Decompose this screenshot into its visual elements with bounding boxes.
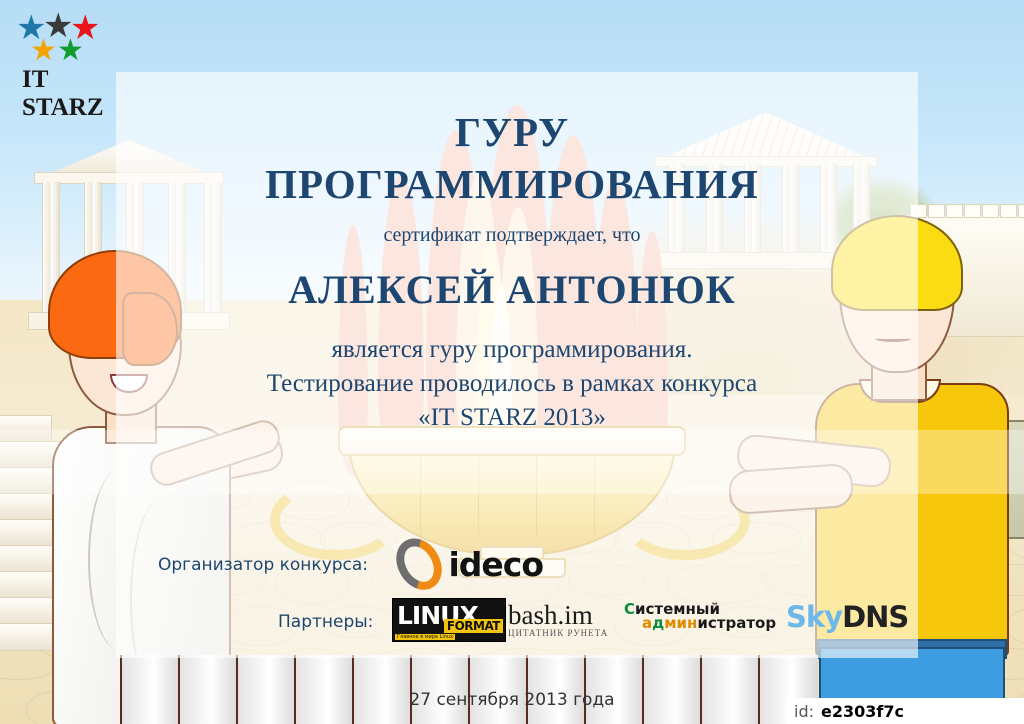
- id-label: id:: [794, 702, 814, 721]
- sysadmin-word2: администратор: [624, 616, 782, 631]
- organizer-label: Организатор конкурса:: [158, 555, 368, 575]
- ideco-wordmark: ideco: [448, 545, 543, 584]
- linux-format-logo: LINUX FORMAT Главное в мире Linux: [392, 598, 506, 642]
- title-line-1: ГУРУ: [0, 108, 1024, 156]
- confirmation-text: сертификат подтверждает, что: [0, 224, 1024, 247]
- skydns-word2: DNS: [842, 600, 908, 634]
- id-badge: id: e2303f7c: [786, 698, 1024, 724]
- ideco-logo: ideco: [398, 542, 543, 586]
- bash-im-logo: bash.im ЦИТАТНИК РУНЕТА: [508, 600, 623, 638]
- bash-im-tagline: ЦИТАТНИК РУНЕТА: [508, 628, 623, 638]
- linux-format-word2: FORMAT: [444, 619, 503, 633]
- skydns-logo: SkyDNS: [786, 600, 908, 634]
- bash-im-wordmark: bash.im: [508, 600, 623, 631]
- skydns-word1: Sky: [786, 600, 842, 634]
- body-line-3: «IT STARZ 2013»: [0, 404, 1024, 432]
- id-value: e2303f7c: [821, 702, 904, 721]
- sysadmin-logo: Системный администратор: [624, 602, 782, 631]
- linux-format-tagline: Главное в мире Linux: [395, 634, 455, 640]
- body-line-2: Тестирование проводилось в рамках конкур…: [0, 370, 1024, 398]
- body-line-1: является гуру программирования.: [0, 336, 1024, 364]
- title-line-2: ПРОГРАММИРОВАНИЯ: [0, 160, 1024, 208]
- certificate-canvas: ★ ★ ★ ★ ★ IT STARZ ГУРУ ПРОГРАММИРОВАНИЯ…: [0, 0, 1024, 724]
- partners-label: Партнеры:: [278, 612, 373, 632]
- recipient-name: АЛЕКСЕЙ АНТОНЮК: [0, 266, 1024, 313]
